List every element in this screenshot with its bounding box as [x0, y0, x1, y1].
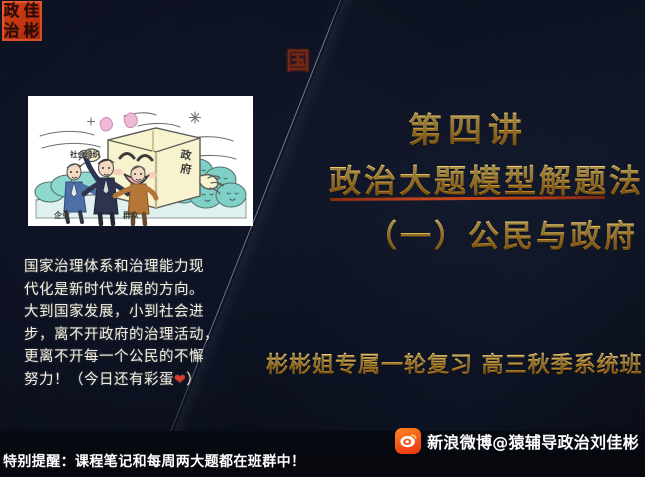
- corner-seal: 政 佳 治 彬: [2, 1, 42, 41]
- note-line-6: 努力！（今日还有彩蛋❤）: [24, 369, 256, 392]
- svg-text:府: 府: [180, 161, 193, 176]
- note-line-2: 代化是新时代发展的方向。: [24, 279, 256, 302]
- weibo-glyph: [399, 432, 417, 450]
- illustration-card: 政 府: [28, 96, 253, 226]
- note-block: 国家治理体系和治理能力现 代化是新时代发展的方向。 大到国家发展，小到社会进 步…: [24, 256, 256, 391]
- title-line-1: 第四讲: [408, 103, 528, 152]
- illustration-label-masses: 群众: [122, 210, 140, 220]
- course-line: 彬彬姐专属一轮复习 高三秋季系统班: [266, 347, 643, 379]
- corner-seal-char-2: 佳: [24, 3, 40, 19]
- note-line-1: 国家治理体系和治理能力现: [24, 256, 256, 279]
- note-line-3: 大到国家发展，小到社会进: [24, 301, 256, 324]
- illustration-label-enterprise: 企业: [53, 210, 70, 220]
- corner-seal-char-3: 治: [4, 23, 20, 39]
- title-line-3: （一）公民与政府: [366, 211, 638, 256]
- illustration-label-social-org: 社会组织: [69, 149, 100, 159]
- corner-seal-char-1: 政: [4, 3, 20, 19]
- note-line-4: 步，离不开政府的治理活动，: [24, 324, 256, 347]
- note-line-6-tail: ）: [186, 372, 201, 388]
- note-line-6-text: 努力！（今日还有彩蛋: [24, 372, 174, 388]
- weibo-row[interactable]: 新浪微博@猿辅导政治刘佳彬: [395, 428, 639, 454]
- weibo-handle[interactable]: 新浪微博@猿辅导政治刘佳彬: [427, 429, 639, 453]
- note-line-5: 更离不开每一个公民的不懈: [24, 346, 256, 369]
- illustration-drawing: 政 府: [28, 96, 253, 226]
- heart-icon: ❤: [174, 372, 186, 388]
- corner-seal-char-4: 彬: [24, 23, 40, 39]
- watermark-seal: 国: [286, 44, 320, 78]
- bottom-tip: 特别提醒：课程笔记和每周两大题都在班群中！: [3, 451, 305, 471]
- weibo-icon[interactable]: [395, 428, 421, 454]
- slide-root: 政 佳 治 彬 国: [0, 0, 645, 477]
